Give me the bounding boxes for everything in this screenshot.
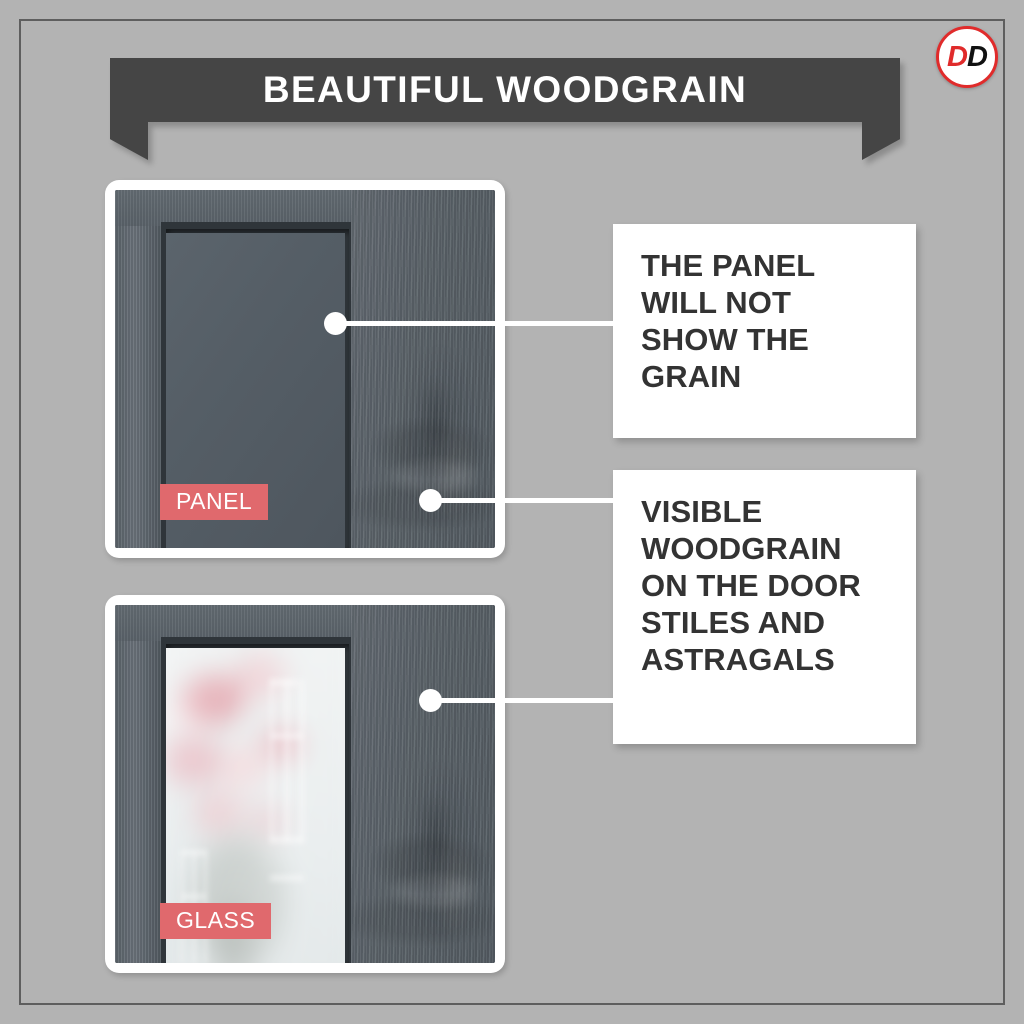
callout-panel-text: THE PANEL WILL NOT SHOW THE GRAIN [641,248,888,396]
logo-letter-red: D [947,41,967,73]
page-title: BEAUTIFUL WOODGRAIN [110,58,900,122]
callout-grain-text: VISIBLE WOODGRAIN ON THE DOOR STILES AND… [641,494,888,678]
door-edge-moulding [115,605,164,963]
logo-letter-black: D [967,41,987,73]
door-stile-woodgrain [351,605,495,963]
connector-dot [324,312,347,335]
connector-dot [419,689,442,712]
door-top-rail [115,605,351,641]
title-ribbon: BEAUTIFUL WOODGRAIN [110,58,900,158]
connector-line [430,498,627,503]
glass-tag-label: GLASS [160,903,271,939]
dd-logo[interactable]: DD [936,26,998,88]
connector-line [430,698,627,703]
connector-line [335,321,627,326]
panel-tag-label: PANEL [160,484,268,520]
door-top-rail [115,190,351,226]
connector-dot [419,489,442,512]
door-edge-moulding [115,190,164,548]
callout-grain-card: VISIBLE WOODGRAIN ON THE DOOR STILES AND… [613,470,916,744]
logo-letters: DD [947,43,987,72]
callout-panel-card: THE PANEL WILL NOT SHOW THE GRAIN [613,224,916,438]
